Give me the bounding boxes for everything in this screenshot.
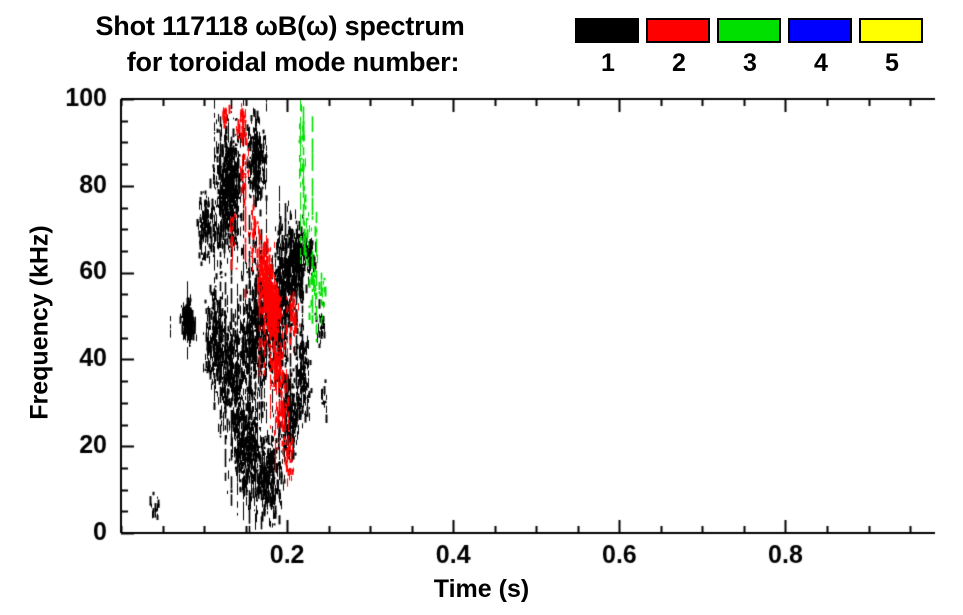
figure: Shot 117118 ωB(ω) spectrum for toroidal … [0,0,963,615]
x-axis-title: Time (s) [0,575,963,604]
spectrogram-plot-area [0,0,963,615]
y-axis-title: Frequency (kHz) [26,173,55,473]
